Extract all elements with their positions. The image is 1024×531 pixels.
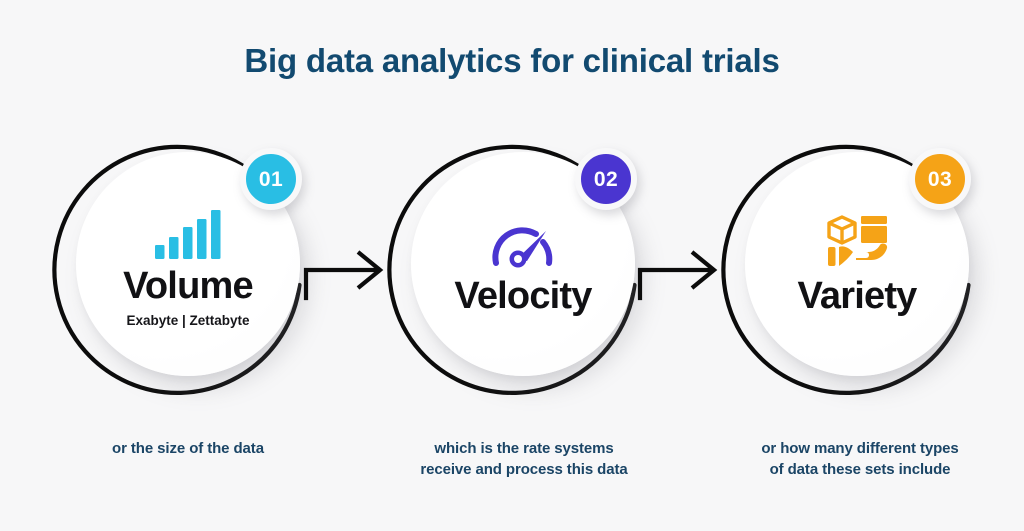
step-caption-velocity-line-2: receive and process this data bbox=[364, 459, 684, 480]
step-badge-03[interactable]: 03 bbox=[909, 148, 971, 210]
hand-holding-boxes-icon bbox=[825, 211, 889, 269]
infographic-root: Big data analytics for clinical trials bbox=[0, 0, 1024, 531]
arrow-step-2-to-3 bbox=[634, 240, 734, 302]
step-caption-volume: or the size of the data bbox=[28, 438, 348, 459]
bar-chart-icon bbox=[153, 201, 223, 259]
step-card-volume[interactable]: Volume Exabyte | Zettabyte 01 bbox=[54, 130, 322, 398]
step-card-velocity[interactable]: Velocity 02 bbox=[389, 130, 657, 398]
step-badge-02[interactable]: 02 bbox=[575, 148, 637, 210]
step-caption-variety-line-1: or how many different types bbox=[700, 438, 1020, 459]
step-card-variety[interactable]: Variety 03 bbox=[723, 130, 991, 398]
step-badge-03-text: 03 bbox=[928, 169, 952, 190]
step-badge-01[interactable]: 01 bbox=[240, 148, 302, 210]
step-caption-volume-line-1: or the size of the data bbox=[28, 438, 348, 459]
step-badge-02-text: 02 bbox=[594, 169, 618, 190]
arrow-step-1-to-2 bbox=[300, 240, 400, 302]
step-label-volume: Volume bbox=[123, 265, 253, 307]
step-caption-velocity: which is the rate systems receive and pr… bbox=[364, 438, 684, 480]
step-label-variety: Variety bbox=[797, 275, 916, 317]
step-caption-variety: or how many different types of data thes… bbox=[700, 438, 1020, 480]
step-caption-variety-line-2: of data these sets include bbox=[700, 459, 1020, 480]
step-sublabel-volume: Exabyte | Zettabyte bbox=[126, 313, 249, 328]
step-caption-velocity-line-1: which is the rate systems bbox=[364, 438, 684, 459]
step-badge-01-text: 01 bbox=[259, 169, 283, 190]
speedometer-icon bbox=[491, 211, 555, 269]
step-label-velocity: Velocity bbox=[454, 275, 591, 317]
